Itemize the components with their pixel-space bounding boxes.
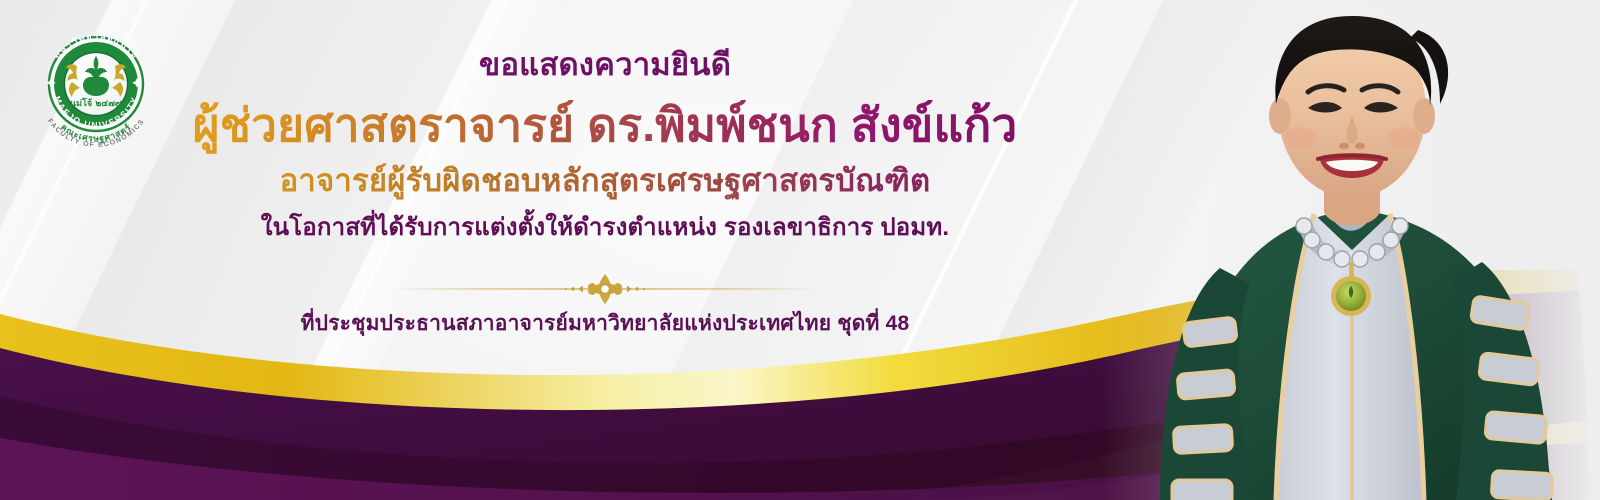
- banner-text-block: ขอแสดงความยินดี ผู้ช่วยศาสตราจารย์ ดร.พิ…: [150, 46, 1060, 244]
- university-seal-logo: แม่โจ้ ๒๔๗๗ มหาวิทยาลัยแม่โจ้ MAEJO UNIV…: [32, 22, 160, 154]
- nostril-left: [1339, 143, 1349, 150]
- ear-left: [1269, 98, 1291, 134]
- honoree-portrait: [1100, 0, 1600, 500]
- seal-center-thai-label: แม่โจ้ ๒๔๗๗: [70, 97, 121, 109]
- cheek-right: [1388, 127, 1420, 149]
- nostril-right: [1355, 143, 1365, 150]
- appointment-line: ในโอกาสที่ได้รับการแต่งตั้งให้ดำรงตำแหน่…: [150, 212, 1060, 244]
- honoree-role-line: อาจารย์ผู้รับผิดชอบหลักสูตรเศรษฐศาสตรบัณ…: [150, 161, 1060, 201]
- ornament-center-motif: [559, 274, 651, 304]
- cheek-left: [1284, 127, 1316, 149]
- honoree-name-line: ผู้ช่วยศาสตราจารย์ ดร.พิมพ์ชนก สังข์แก้ว: [150, 97, 1060, 154]
- congratulations-banner: แม่โจ้ ๒๔๗๗ มหาวิทยาลัยแม่โจ้ MAEJO UNIV…: [0, 0, 1600, 500]
- gold-ornament-divider: [390, 272, 820, 306]
- ear-right: [1413, 98, 1435, 134]
- congratulations-line: ขอแสดงความยินดี: [150, 46, 1060, 85]
- meeting-line: ที่ประชุมประธานสภาอาจารย์มหาวิทยาลัยแห่ง…: [150, 307, 1060, 340]
